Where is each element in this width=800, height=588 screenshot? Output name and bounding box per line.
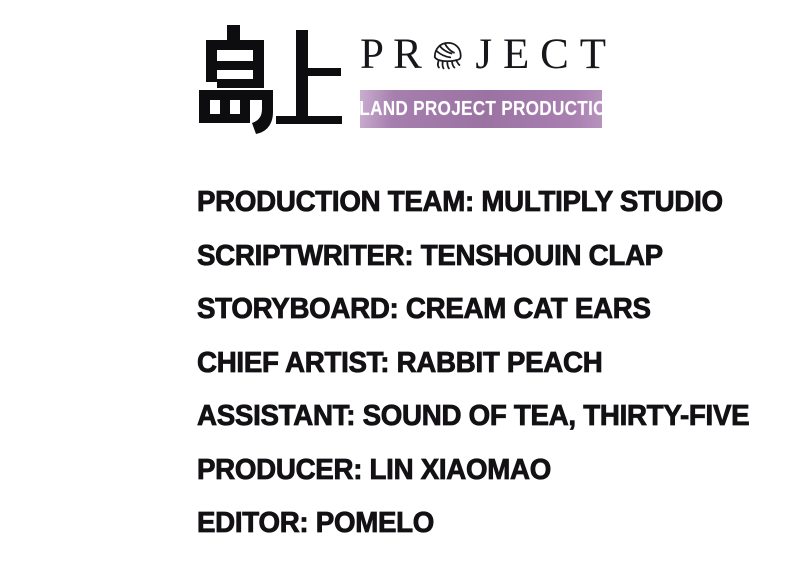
studio-banner: ISLAND PROJECT PRODUCTION (360, 90, 602, 128)
credit-line: PRODUCER: LIN XIAOMAO (197, 444, 751, 498)
credits-list: PRODUCTION TEAM: MULTIPLY STUDIO SCRIPTW… (197, 176, 777, 551)
project-letter-c: C (540, 33, 569, 76)
credit-line: CHIEF ARTIST: RABBIT PEACH (197, 337, 751, 391)
credits-page: P R (0, 0, 800, 588)
cjk-wordmark-daoshang-icon (196, 24, 346, 134)
turtle-jellyfish-icon (431, 35, 464, 75)
project-letter-t: T (580, 33, 606, 76)
credit-line: PRODUCTION TEAM: MULTIPLY STUDIO (197, 176, 751, 230)
studio-logo: P R (196, 22, 606, 134)
project-wordmark: P R (360, 28, 606, 80)
credit-line: ASSISTANT: SOUND OF TEA, THIRTY-FIVE (197, 390, 751, 444)
credit-line: EDITOR: POMELO (197, 497, 751, 551)
project-letter-j: J (475, 33, 492, 76)
project-letter-r: R (393, 33, 422, 76)
credit-line: SCRIPTWRITER: TENSHOUIN CLAP (197, 230, 751, 284)
credit-line: STORYBOARD: CREAM CAT EARS (197, 283, 751, 337)
project-letter-p: P (360, 33, 384, 76)
studio-banner-label: ISLAND PROJECT PRODUCTION (360, 98, 602, 121)
project-letter-e: E (503, 33, 529, 76)
